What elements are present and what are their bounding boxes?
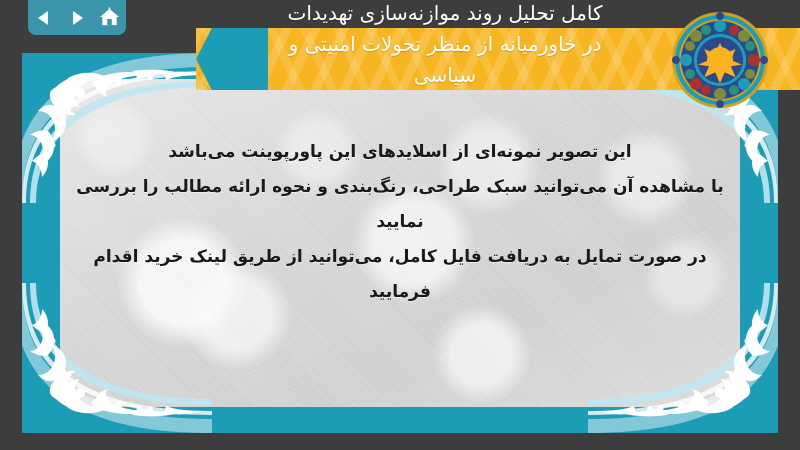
triangle-right-icon [67, 8, 87, 28]
home-button[interactable] [98, 6, 122, 30]
previous-slide-button[interactable] [32, 6, 56, 30]
mandala-ornament-icon [668, 8, 772, 112]
slide-viewer: کامل تحلیل روند موازنه‌سازی تهدیدات در خ… [0, 0, 800, 450]
slide-navigation-bar [28, 0, 126, 35]
triangle-left-icon [34, 8, 54, 28]
home-icon [99, 7, 120, 28]
slide-body-text: این تصویر نمونه‌ای از اسلایدهای این پاور… [60, 135, 740, 310]
page-title: کامل تحلیل روند موازنه‌سازی تهدیدات در خ… [210, 0, 680, 108]
next-slide-button[interactable] [65, 6, 89, 30]
